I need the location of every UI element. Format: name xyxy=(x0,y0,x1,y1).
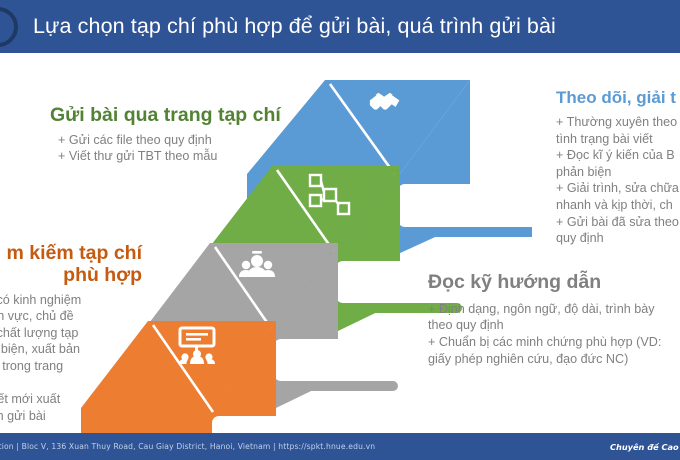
body-line: quy định xyxy=(556,230,680,247)
text-block-blue: Theo dõi, giải t + Thường xuyên theo tìn… xyxy=(556,88,680,247)
body-line: + Thường xuyên theo xyxy=(556,114,680,131)
body-line: ẩn người có kinh nghiệm xyxy=(0,292,142,309)
body-line: giấy phép nghiên cứu, đạo đức NC) xyxy=(428,351,678,368)
body-line: theo quy định xyxy=(428,317,678,334)
body-line: gian phản biện, xuất bản xyxy=(0,341,142,358)
body-line: m từ khóa trong trang xyxy=(0,358,142,375)
body-line: nhanh và kịp thời, ch xyxy=(556,197,680,214)
text-block-gray: Đọc kỹ hướng dẫn + Định dạng, ngôn ngữ, … xyxy=(428,272,678,367)
body-gray: + Định dạng, ngôn ngữ, độ dài, trình bày… xyxy=(428,301,678,367)
circle-outline-icon xyxy=(0,7,18,47)
body-line: ững bài viết mới xuất xyxy=(0,391,142,408)
body-line: ạp chí định gửi bài xyxy=(0,408,142,425)
body-line: + Định dạng, ngôn ngữ, độ dài, trình bày xyxy=(428,301,678,318)
body-line: nh giá về chất lượng tạp xyxy=(0,325,142,342)
heading-gui-bai-qua-trang-tap-chi: Gửi bài qua trang tạp chí xyxy=(50,105,312,127)
body-line: tình trạng bài viết xyxy=(556,131,680,148)
body-line: + Đọc kĩ ý kiến của B xyxy=(556,147,680,164)
heading-tim-kiem-tap-chi-line1: m kiếm tạp chí xyxy=(0,243,142,265)
text-block-orange: m kiếm tạp chí phù hợp ẩn người có kinh … xyxy=(0,243,142,425)
slide-footer: Technology Education | Bloc V, 136 Xuan … xyxy=(0,433,680,460)
body-blue: + Thường xuyên theo tình trạng bài viết … xyxy=(556,114,680,247)
heading-doc-ky-huong-dan: Đọc kỹ hướng dẫn xyxy=(428,272,678,294)
heading-tim-kiem-tap-chi-line2: phù hợp xyxy=(0,265,142,287)
body-line: + Giải trình, sửa chữa xyxy=(556,180,680,197)
slide-canvas: Lựa chọn tạp chí phù hợp để gửi bài, quá… xyxy=(0,0,680,460)
footer-address: Technology Education | Bloc V, 136 Xuan … xyxy=(0,433,375,460)
body-line: m theo lĩnh vực, chủ đề xyxy=(0,308,142,325)
text-block-green: Gửi bài qua trang tạp chí + Gửi các file… xyxy=(50,105,312,165)
body-line: + Gửi các file theo quy định xyxy=(58,132,312,149)
body-orange: ẩn người có kinh nghiệm m theo lĩnh vực,… xyxy=(0,292,142,425)
body-line: + Chuẩn bị các minh chứng phù hợp (VD: xyxy=(428,334,678,351)
heading-theo-doi-giai-trinh: Theo dõi, giải t xyxy=(556,88,680,107)
body-line: + Viết thư gửi TBT theo mẫu xyxy=(58,148,312,165)
footer-course-label: Chuyên đề Cao học xyxy=(610,433,680,460)
body-line: phản biện xyxy=(556,164,680,181)
page-title: Lựa chọn tạp chí phù hợp để gửi bài, quá… xyxy=(33,0,556,53)
slide-header: Lựa chọn tạp chí phù hợp để gửi bài, quá… xyxy=(0,0,680,53)
body-green: + Gửi các file theo quy định + Viết thư … xyxy=(50,132,312,165)
body-line: hí xyxy=(0,375,142,392)
body-line: + Gửi bài đã sửa theo xyxy=(556,214,680,231)
